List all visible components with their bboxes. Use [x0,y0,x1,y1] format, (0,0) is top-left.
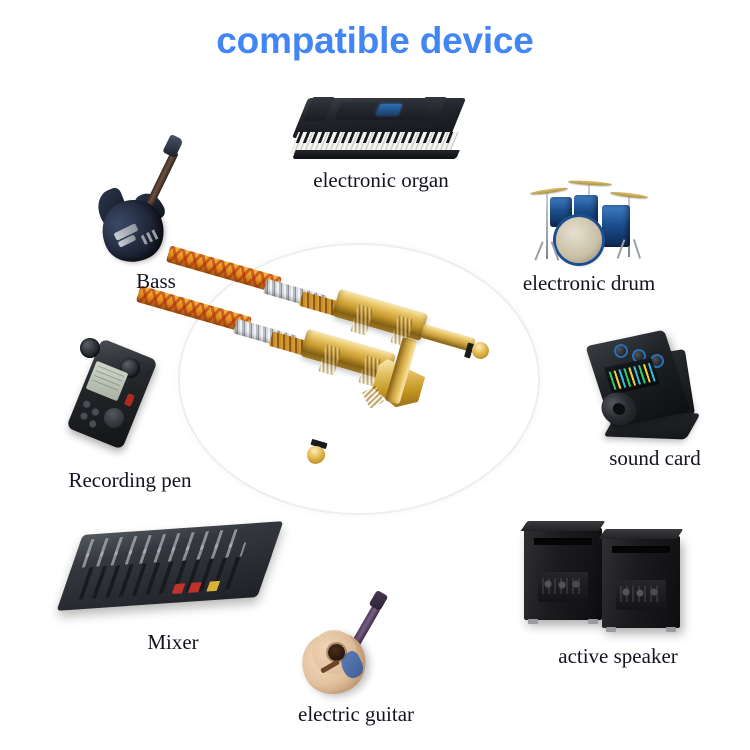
connector-barrel-straight [332,289,428,341]
device-label-recording-pen: Recording pen [68,468,191,493]
device-active-speaker: active speaker [518,518,718,638]
device-label-active-speaker: active speaker [558,644,678,669]
device-electronic-organ: electronic organ [292,88,470,188]
device-sound-card: sound card [580,330,730,450]
device-bass: Bass [96,132,216,292]
device-mixer: Mixer [68,518,278,628]
page-title: compatible device [0,20,750,62]
device-label-electronic-drum: electronic drum [523,271,655,296]
device-recording-pen: Recording pen [60,332,200,462]
device-electronic-drum: electronic drum [514,165,664,275]
product-image-audio-cable [178,243,536,511]
device-electric-guitar: electric guitar [296,588,416,708]
device-label-bass: Bass [136,269,176,294]
device-label-electric-guitar: electric guitar [298,702,414,727]
compatible-device-infographic: compatible device [0,0,750,750]
device-label-sound-card: sound card [609,446,701,471]
device-label-electronic-organ: electronic organ [313,168,448,193]
device-label-mixer: Mixer [147,630,198,655]
